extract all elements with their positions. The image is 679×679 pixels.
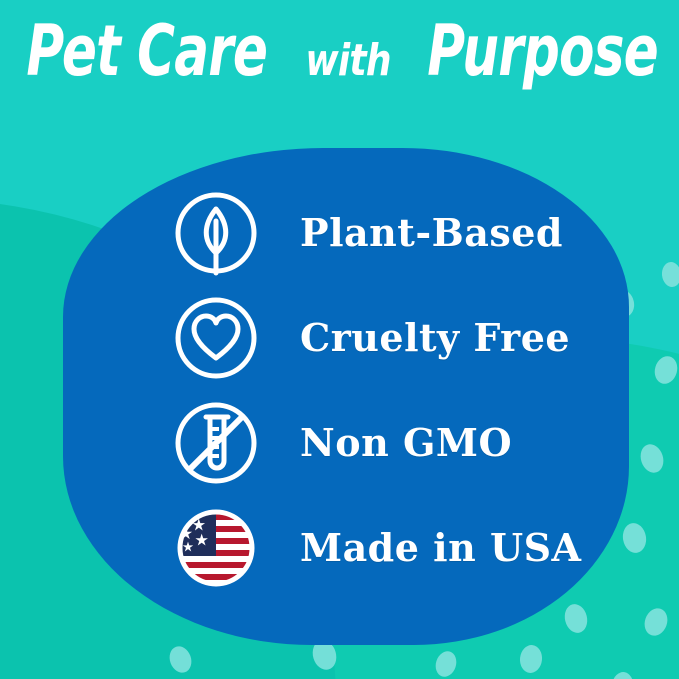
headline-part-1: Pet Care xyxy=(26,16,267,86)
headline-part-3: Purpose xyxy=(427,16,658,86)
feature-list: Plant-Based Cruelty Free xyxy=(170,180,590,600)
feature-label: Plant-Based xyxy=(300,210,563,255)
feature-row-cruelty-free: Cruelty Free xyxy=(170,285,590,390)
feature-row-made-in-usa: Made in USA xyxy=(170,495,590,600)
heart-icon xyxy=(170,292,262,384)
no-gmo-icon xyxy=(170,397,262,489)
promo-graphic: Pet CarewithPurpose® Plant-Based Cruelty… xyxy=(0,0,679,679)
usa-flag-icon xyxy=(170,502,262,594)
leaf-icon xyxy=(170,187,262,279)
feature-row-plant-based: Plant-Based xyxy=(170,180,590,285)
feature-row-non-gmo: Non GMO xyxy=(170,390,590,495)
feature-label: Non GMO xyxy=(300,420,512,465)
headline-part-2: with xyxy=(305,39,390,83)
feature-label: Made in USA xyxy=(300,525,582,570)
feature-label: Cruelty Free xyxy=(300,315,570,360)
page-title: Pet CarewithPurpose® xyxy=(0,16,679,86)
